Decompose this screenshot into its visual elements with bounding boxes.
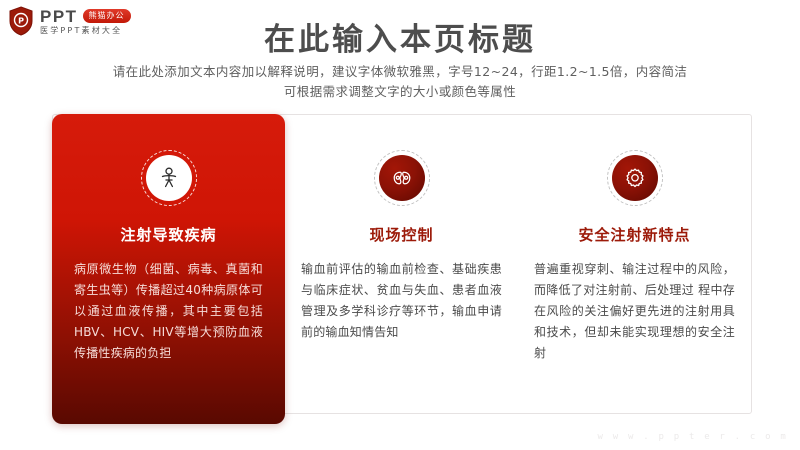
card-scene-control[interactable]: 现场控制 输血前评估的输血前检查、基础疾患与临床症状、贫血与失血、患者血液管理及… [285,114,518,424]
card-title: 安全注射新特点 [534,224,735,245]
card-body: 普遍重视穿刺、输注过程中的风险，而降低了对注射前、后处理过 程中存在风险的关注偏… [534,259,735,364]
card-group: 注射导致疾病 病原微生物（细菌、病毒、真菌和寄生虫等）传播超过40种病原体可以通… [52,114,752,424]
site-watermark: w w w . p p t e r . c o m [598,432,788,442]
card-title: 现场控制 [301,224,502,245]
card-title: 注射导致疾病 [74,224,263,245]
card-icon-wrapper [141,150,197,206]
person-icon [146,155,192,201]
card-body: 病原微生物（细菌、病毒、真菌和寄生虫等）传播超过40种病原体可以通过血液传播，其… [74,259,263,364]
card-safe-injection[interactable]: 安全注射新特点 普遍重视穿刺、输注过程中的风险，而降低了对注射前、后处理过 程中… [518,114,751,424]
card-icon-wrapper [607,150,663,206]
page-title: 在此输入本页标题 [0,14,800,59]
page-subtitle: 请在此处添加文本内容加以解释说明，建议字体微软雅黑，字号12~24，行距1.2~… [0,62,800,102]
card-injection-disease[interactable]: 注射导致疾病 病原微生物（细菌、病毒、真菌和寄生虫等）传播超过40种病原体可以通… [52,114,285,424]
subtitle-line-1: 请在此处添加文本内容加以解释说明，建议字体微软雅黑，字号12~24，行距1.2~… [0,62,800,82]
card-body: 输血前评估的输血前检查、基础疾患与临床症状、贫血与失血、患者血液管理及多学科诊疗… [301,259,502,343]
subtitle-line-2: 可根据需求调整文字的大小或颜色等属性 [0,82,800,102]
gear-icon [612,155,658,201]
kidneys-icon [379,155,425,201]
card-icon-wrapper [374,150,430,206]
